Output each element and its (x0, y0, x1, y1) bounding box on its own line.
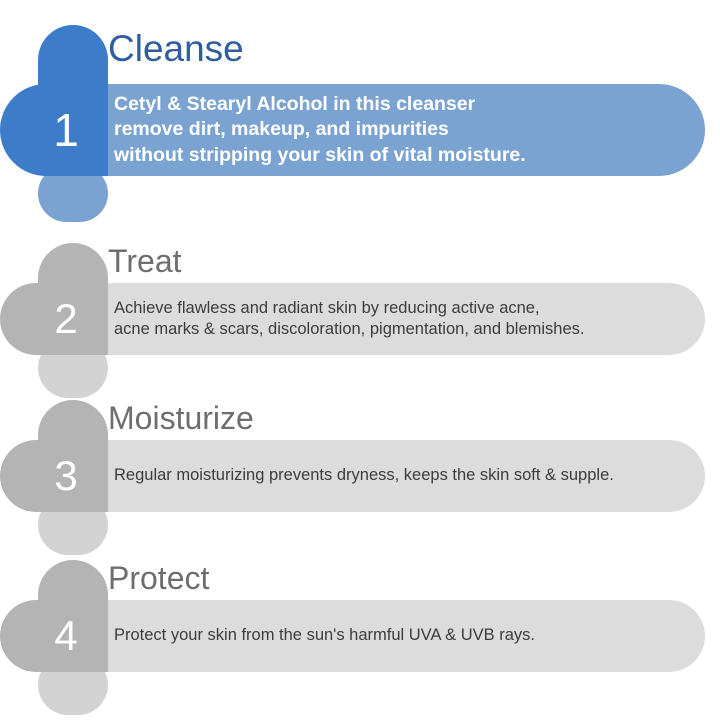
step-number-badge-4: 4 (0, 600, 108, 672)
step-number-1: 1 (29, 107, 79, 153)
step-item-protect[interactable]: Protect your skin from the sun's harmful… (0, 552, 720, 720)
step-number-2: 2 (30, 298, 77, 340)
step-item-moisturize[interactable]: Regular moisturizing prevents dryness, k… (0, 392, 720, 552)
step-body-text-1: Cetyl & Stearyl Alcohol in this cleanser… (108, 92, 544, 168)
step-title-4: Protect (108, 562, 209, 594)
step-body-text-3: Regular moisturizing prevents dryness, k… (108, 465, 632, 486)
step-title-2: Treat (108, 245, 182, 277)
step-item-treat[interactable]: Achieve flawless and radiant skin by red… (0, 235, 720, 395)
step-body-bar-4: Protect your skin from the sun's harmful… (108, 600, 705, 672)
step-number-3: 3 (30, 455, 77, 497)
skincare-routine-infographic: Cetyl & Stearyl Alcohol in this cleanser… (0, 0, 720, 720)
step-title-3: Moisturize (108, 402, 254, 434)
step-title-1: Cleanse (108, 30, 244, 67)
step-body-text-2: Achieve flawless and radiant skin by red… (108, 298, 602, 341)
step-body-bar-1: Cetyl & Stearyl Alcohol in this cleanser… (108, 84, 705, 176)
step-number-4: 4 (30, 615, 77, 657)
step-item-cleanse[interactable]: Cetyl & Stearyl Alcohol in this cleanser… (0, 0, 720, 235)
step-number-badge-1: 1 (0, 84, 108, 176)
step-number-badge-2: 2 (0, 283, 108, 355)
step-body-text-4: Protect your skin from the sun's harmful… (108, 625, 553, 646)
step-number-badge-3: 3 (0, 440, 108, 512)
step-body-bar-2: Achieve flawless and radiant skin by red… (108, 283, 705, 355)
step-body-bar-3: Regular moisturizing prevents dryness, k… (108, 440, 705, 512)
